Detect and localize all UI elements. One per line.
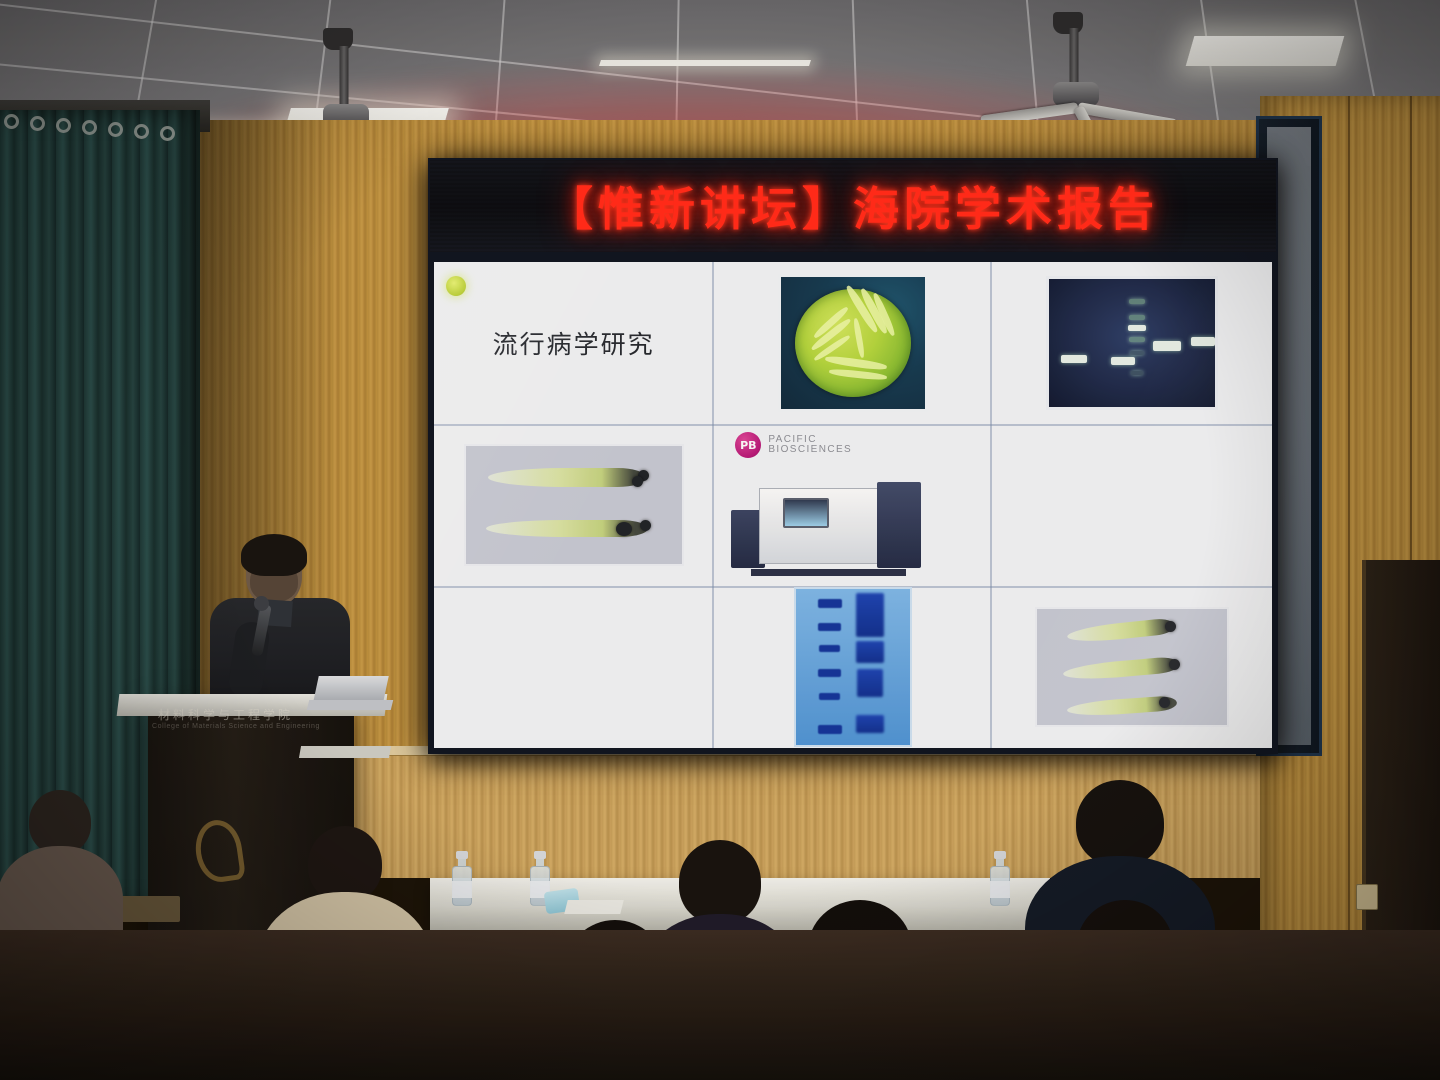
slide-cell-sequencer: PB PACIFIC BIOSCIENCES [713, 424, 992, 586]
pacbio-sequencer-photo [731, 480, 921, 576]
pacbio-logo: PB PACIFIC BIOSCIENCES [735, 432, 852, 458]
pacbio-wordmark-line2: BIOSCIENCES [768, 445, 852, 456]
papers-on-table[interactable] [564, 900, 623, 914]
lecture-hall-scene: 【惟新讲坛】海院学术报告 流行病学研究 [0, 0, 1440, 1080]
slide-cell-empty-middle-right [993, 424, 1272, 586]
slide-cell-larval-pair [434, 424, 713, 586]
slide-cell-title: 流行病学研究 [434, 262, 713, 424]
floor [0, 930, 1440, 1080]
pacbio-mark-icon: PB [735, 432, 761, 458]
sds-page-gel-photo [794, 587, 912, 747]
bullet-dot-icon [446, 276, 466, 296]
led-scrolling-banner: 【惟新讲坛】海院学术报告 [430, 160, 1276, 252]
ceiling-strip-light-1 [599, 60, 811, 66]
agar-plate [795, 289, 911, 397]
led-banner-text: 【惟新讲坛】海院学术报告 [547, 173, 1159, 239]
podium-label-en: College of Materials Science and Enginee… [152, 723, 362, 730]
slide-cell-dna-gel [993, 262, 1272, 424]
slide-cell-petri-dish [713, 262, 992, 424]
slide-cell-protein-gel [713, 586, 992, 748]
water-bottle-1[interactable] [452, 852, 472, 906]
slide-title: 流行病学研究 [493, 325, 655, 361]
larval-specimen-triplet-photo [1035, 607, 1229, 727]
presentation-slide[interactable]: 流行病学研究 [434, 262, 1272, 748]
audience-member-1 [0, 790, 120, 950]
pacbio-wordmark: PACIFIC BIOSCIENCES [768, 435, 852, 456]
slide-cell-larval-triplet [993, 586, 1272, 748]
petri-dish-photo [778, 274, 928, 412]
sequencer-touchscreen [783, 498, 829, 528]
wall-power-outlet [1356, 884, 1378, 910]
ceiling-panel-light-2 [1186, 36, 1345, 66]
water-bottle-3[interactable] [990, 852, 1010, 906]
larval-specimen-pair-photo [464, 444, 684, 566]
curtain-grommet-rings [0, 112, 200, 138]
presenter-laptop[interactable] [313, 676, 389, 702]
slide-cell-empty-bottom-left [434, 586, 713, 748]
podium-label-cn: 材料科学与工程学院 [158, 706, 348, 723]
podium-side-shelf [299, 746, 391, 758]
dna-gel-photo [1046, 276, 1218, 410]
